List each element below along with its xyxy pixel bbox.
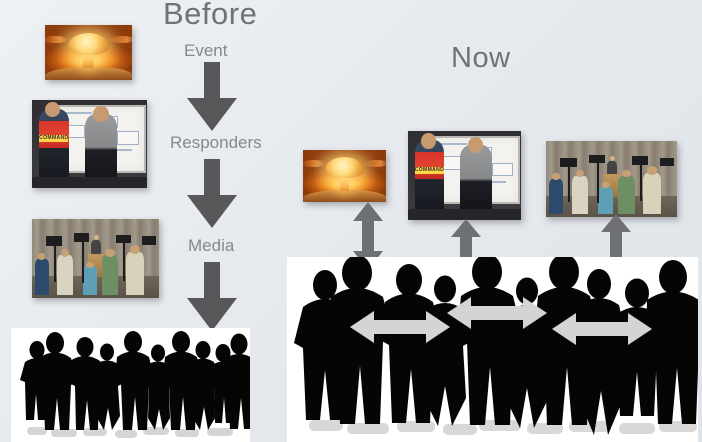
tripod-3 — [640, 165, 642, 201]
responder-grey-shirt — [85, 114, 117, 186]
tripod-2 — [82, 242, 84, 283]
board-box-3 — [117, 131, 139, 144]
tv-camera-4 — [660, 158, 674, 166]
arrow-event-to-responders — [186, 62, 238, 132]
blast-cap-icon — [68, 33, 110, 55]
tv-camera-2 — [589, 155, 605, 163]
flow-label-media: Media — [188, 236, 234, 256]
crew-member-2 — [572, 176, 588, 214]
before-nuclear-explosion-photo — [45, 25, 132, 80]
arrow-media-to-public — [186, 262, 238, 332]
board-box-3 — [492, 163, 513, 177]
crowd-silhouette-icon — [287, 257, 698, 442]
arrow-responders-to-media — [186, 159, 238, 229]
before-incident-command-photo: COMMAND — [32, 100, 147, 188]
flow-label-event: Event — [184, 41, 227, 61]
board-line-1 — [65, 112, 92, 114]
head-icon — [468, 137, 483, 153]
before-press-conference-photo — [32, 219, 159, 298]
crowd-silhouette-icon — [11, 328, 250, 442]
tv-camera-3 — [116, 235, 131, 244]
two-way-arrow-peer-right — [552, 309, 652, 349]
crew-member-1 — [35, 259, 49, 295]
before-public-crowd-silhouette — [11, 328, 250, 442]
vest-label: COMMAND — [415, 167, 443, 174]
vest-label: COMMAND — [39, 135, 68, 142]
tripod-1 — [568, 167, 570, 202]
blast-ground-icon — [303, 190, 386, 202]
tripod-3 — [123, 243, 125, 281]
blast-cap-icon — [325, 157, 365, 178]
tv-camera-3 — [632, 156, 648, 164]
crew-member-5 — [126, 252, 144, 295]
slide-canvas: Before Now Event Responders Media COMMAN… — [0, 0, 702, 442]
head-icon — [45, 102, 60, 117]
crew-member-2 — [57, 255, 72, 295]
tv-camera-4 — [142, 236, 156, 245]
crew-member-3 — [83, 266, 97, 294]
now-nuclear-explosion-photo — [303, 150, 386, 202]
tv-camera-2 — [74, 233, 89, 242]
blast-wing-left-icon — [45, 36, 68, 43]
two-way-arrow-peer-center — [447, 293, 547, 333]
responder-command-vest: COMMAND — [39, 109, 69, 186]
now-incident-command-photo: COMMAND — [408, 131, 521, 220]
now-public-crowd-silhouette — [287, 257, 698, 442]
crew-member-5 — [643, 173, 661, 214]
two-way-arrow-peer-left — [350, 307, 450, 347]
blast-wing-left-icon — [303, 160, 325, 167]
head-icon — [93, 106, 108, 122]
responder-command-vest: COMMAND — [415, 140, 444, 218]
responder-grey-shirt — [460, 145, 492, 218]
desk — [32, 177, 147, 188]
tv-camera-1 — [560, 158, 577, 167]
blast-ground-icon — [45, 67, 132, 80]
tv-camera-1 — [46, 236, 63, 245]
tripod-2 — [597, 163, 599, 203]
crew-member-1 — [549, 179, 563, 214]
page-title-now: Now — [451, 42, 511, 75]
blast-wing-right-icon — [364, 160, 386, 167]
crew-member-4 — [618, 176, 635, 214]
tripod-1 — [54, 246, 56, 282]
now-press-conference-photo — [546, 141, 677, 217]
crew-member-3 — [598, 187, 612, 214]
flow-label-responders: Responders — [170, 133, 262, 153]
crew-member-4 — [102, 255, 119, 295]
page-title-before: Before — [163, 0, 257, 32]
head-icon — [421, 133, 436, 149]
board-line-1 — [441, 143, 467, 145]
blast-wing-right-icon — [109, 36, 132, 43]
